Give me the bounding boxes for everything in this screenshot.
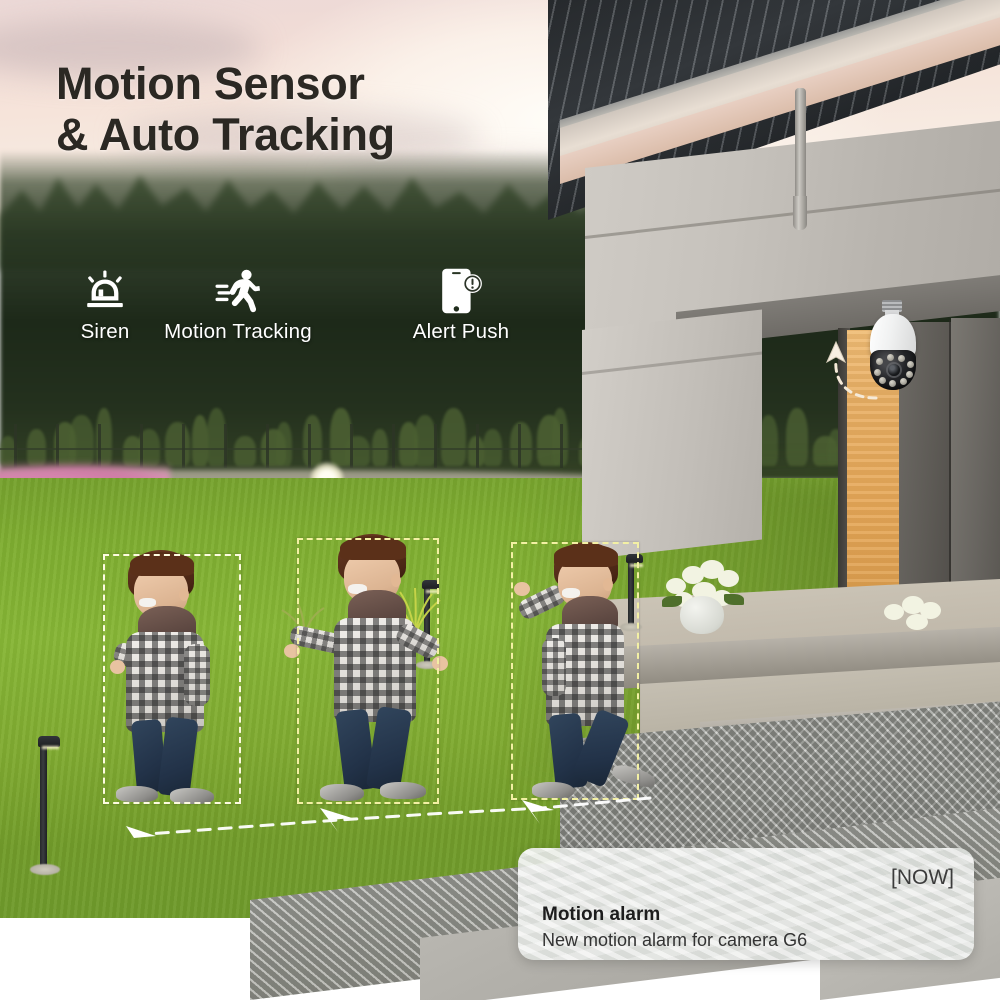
- notification-card[interactable]: [NOW] Motion alarm New motion alarm for …: [518, 848, 974, 960]
- door-panel-right: [951, 318, 1000, 618]
- flower-bush-right: [880, 590, 950, 634]
- path-arrow-1: [126, 826, 156, 850]
- downpipe-bend: [793, 196, 807, 230]
- feature-label-motion-tracking: Motion Tracking: [128, 320, 348, 344]
- notification-body: New motion alarm for camera G6: [542, 930, 807, 951]
- feature-label-alert-push: Alert Push: [392, 320, 530, 344]
- notification-title: Motion alarm: [542, 904, 660, 926]
- detection-box-2: [297, 538, 439, 804]
- camera-lens: [888, 364, 900, 376]
- running-person-icon: [128, 266, 348, 316]
- phone-alert-icon: [392, 266, 530, 316]
- door-seam: [949, 320, 951, 620]
- flower-pot: [680, 596, 724, 634]
- detection-box-3: [511, 542, 639, 800]
- house-wall-lower: [582, 309, 762, 560]
- page-title: Motion Sensor & Auto Tracking: [56, 58, 576, 160]
- title-line-1: Motion Sensor: [56, 58, 576, 109]
- promo-scene: Motion Sensor & Auto Tracking Siren: [0, 0, 1000, 1000]
- feature-motion-tracking: Motion Tracking: [128, 266, 348, 344]
- downpipe: [795, 88, 806, 206]
- notification-timestamp: [NOW]: [891, 866, 954, 890]
- path-arrow-3: [522, 800, 554, 824]
- title-line-2: & Auto Tracking: [56, 109, 576, 160]
- feature-alert-push: Alert Push: [392, 266, 530, 344]
- feature-list: Siren Motion Tracking: [40, 266, 530, 361]
- detection-box-1: [103, 554, 241, 804]
- garden-bollard-lamp-left: [40, 742, 60, 870]
- bulb-socket-camera: [862, 300, 924, 406]
- tracking-path: [90, 780, 670, 850]
